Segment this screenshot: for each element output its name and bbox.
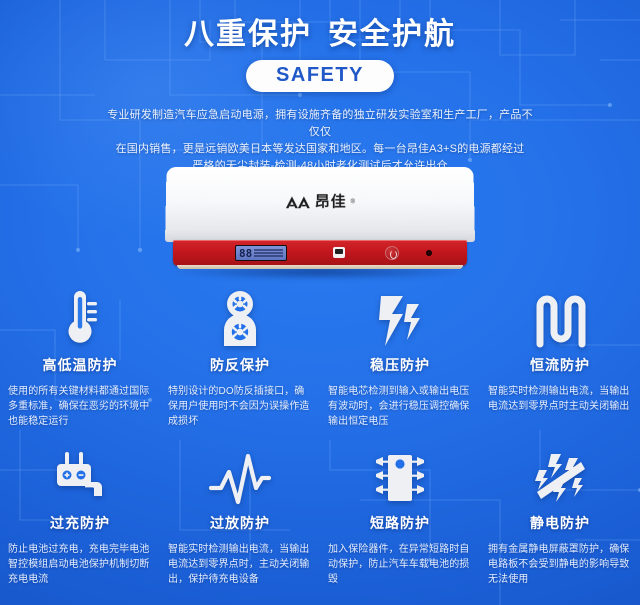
feature-row-2: 过充防护 防止电池过充电，充电完毕电池智控模组启动电池保护机制切断充电电流 过放… bbox=[0, 444, 640, 587]
feature-row-1: 高低温防护 使用的所有关键材料都通过国际多重标准，确保在恶劣的环境中也能稳定运行 bbox=[0, 286, 640, 429]
brand-logo: 昂佳 ® bbox=[285, 194, 355, 209]
feature-anti-reverse: 防反保护 特别设计的DO防反插接口，确保用户使用时不会因为误操作造成损坏 bbox=[160, 286, 320, 429]
product-base bbox=[177, 265, 463, 269]
page-title: 八重保护安全护航 bbox=[0, 18, 640, 51]
brand-name: 昂佳 bbox=[315, 194, 347, 209]
page-title-part1: 八重保护 bbox=[184, 18, 312, 51]
feature-overcharge-protection: 过充防护 防止电池过充电，充电完毕电池智控模组启动电池保护机制切断充电电流 bbox=[0, 444, 160, 587]
socket-icon bbox=[218, 286, 262, 348]
safety-badge: SAFETY bbox=[246, 60, 394, 92]
lcd-value: 88 bbox=[239, 248, 252, 259]
page-title-part2: 安全护航 bbox=[328, 18, 456, 51]
feature-description: 智能实时检测输出电流，当输出电流达到零界点时，主动关闭输出，保护待充电设备 bbox=[168, 542, 312, 587]
feature-overdischarge-protection: 过放防护 智能实时检测输出电流，当输出电流达到零界点时，主动关闭输出，保护待充电… bbox=[160, 444, 320, 587]
feature-title: 恒流防护 bbox=[530, 355, 590, 375]
feature-title: 过充防护 bbox=[50, 513, 110, 533]
intro-line-2: 在国内销售，更是远销欧美日本等发达国家和地区。每一台昂佳A3+S的电源都经过 bbox=[104, 141, 536, 158]
intro-line-1: 专业研发制造汽车应急启动电源，拥有设施齐备的独立研发实验室和生产工厂，产品不仅仅 bbox=[104, 107, 536, 141]
voltage-bolt-icon bbox=[377, 286, 423, 348]
feature-title: 稳压防护 bbox=[370, 355, 430, 375]
feature-description: 使用的所有关键材料都通过国际多重标准，确保在恶劣的环境中也能稳定运行 bbox=[8, 384, 152, 429]
feature-description: 智能电芯检测到输入或输出电压有波动时，会进行稳压调控确保输出恒定电压 bbox=[328, 384, 472, 429]
feature-description: 防止电池过充电，充电完毕电池智控模组启动电池保护机制切断充电电流 bbox=[8, 542, 152, 587]
badge-container: SAFETY bbox=[0, 60, 640, 92]
plug-icon bbox=[52, 444, 108, 506]
feature-high-low-temp: 高低温防护 使用的所有关键材料都通过国际多重标准，确保在恶劣的环境中也能稳定运行 bbox=[0, 286, 160, 429]
static-electricity-icon bbox=[531, 444, 589, 506]
feature-title: 防反保护 bbox=[210, 355, 270, 375]
feature-static-protection: 静电防护 拥有金属静电屏蔽罩防护，确保电路板不会受到静电的影响导致无法使用 bbox=[480, 444, 640, 587]
product-top-shell: 昂佳 ® bbox=[165, 167, 475, 242]
feature-title: 短路防护 bbox=[370, 513, 430, 533]
power-button[interactable] bbox=[385, 246, 399, 260]
feature-description: 特别设计的DO防反插接口，确保用户使用时不会因为误操作造成损坏 bbox=[168, 384, 312, 429]
feature-description: 智能实时检测输出电流，当输出电流达到零界点时主动关闭输出 bbox=[488, 384, 632, 414]
lcd-indicator-bars bbox=[254, 249, 283, 257]
feature-title: 高低温防护 bbox=[43, 355, 118, 375]
feature-grid: 高低温防护 使用的所有关键材料都通过国际多重标准，确保在恶劣的环境中也能稳定运行 bbox=[0, 286, 640, 587]
feature-description: 加入保险器件，在异常短路时自动保护，防止汽车车载电池的损毁 bbox=[328, 542, 472, 587]
logo-mark-icon bbox=[285, 194, 311, 209]
feature-voltage-regulation: 稳压防护 智能电芯检测到输入或输出电压有波动时，会进行稳压调控确保输出恒定电压 bbox=[320, 286, 480, 429]
thermometer-icon bbox=[60, 286, 100, 348]
usb-port bbox=[333, 247, 345, 258]
trademark-symbol: ® bbox=[351, 199, 355, 205]
product-image: 昂佳 ® 88 bbox=[165, 166, 475, 278]
waveform-icon bbox=[209, 444, 271, 506]
safety-feature-page: 八重保护安全护航 SAFETY 专业研发制造汽车应急启动电源，拥有设施齐备的独立… bbox=[0, 0, 640, 605]
current-wave-icon bbox=[534, 286, 586, 348]
chip-icon bbox=[372, 444, 428, 506]
led-indicator bbox=[426, 250, 432, 256]
product-front-panel: 88 bbox=[173, 240, 467, 266]
feature-short-circuit-protection: 短路防护 加入保险器件，在异常短路时自动保护，防止汽车车载电池的损毁 bbox=[320, 444, 480, 587]
feature-title: 过放防护 bbox=[210, 513, 270, 533]
page-header: 八重保护安全护航 SAFETY bbox=[0, 18, 640, 92]
lcd-display: 88 bbox=[235, 245, 287, 261]
feature-title: 静电防护 bbox=[530, 513, 590, 533]
intro-paragraph: 专业研发制造汽车应急启动电源，拥有设施齐备的独立研发实验室和生产工厂，产品不仅仅… bbox=[104, 107, 536, 175]
feature-description: 拥有金属静电屏蔽罩防护，确保电路板不会受到静电的影响导致无法使用 bbox=[488, 542, 632, 587]
feature-constant-current: 恒流防护 智能实时检测输出电流，当输出电流达到零界点时主动关闭输出 bbox=[480, 286, 640, 429]
